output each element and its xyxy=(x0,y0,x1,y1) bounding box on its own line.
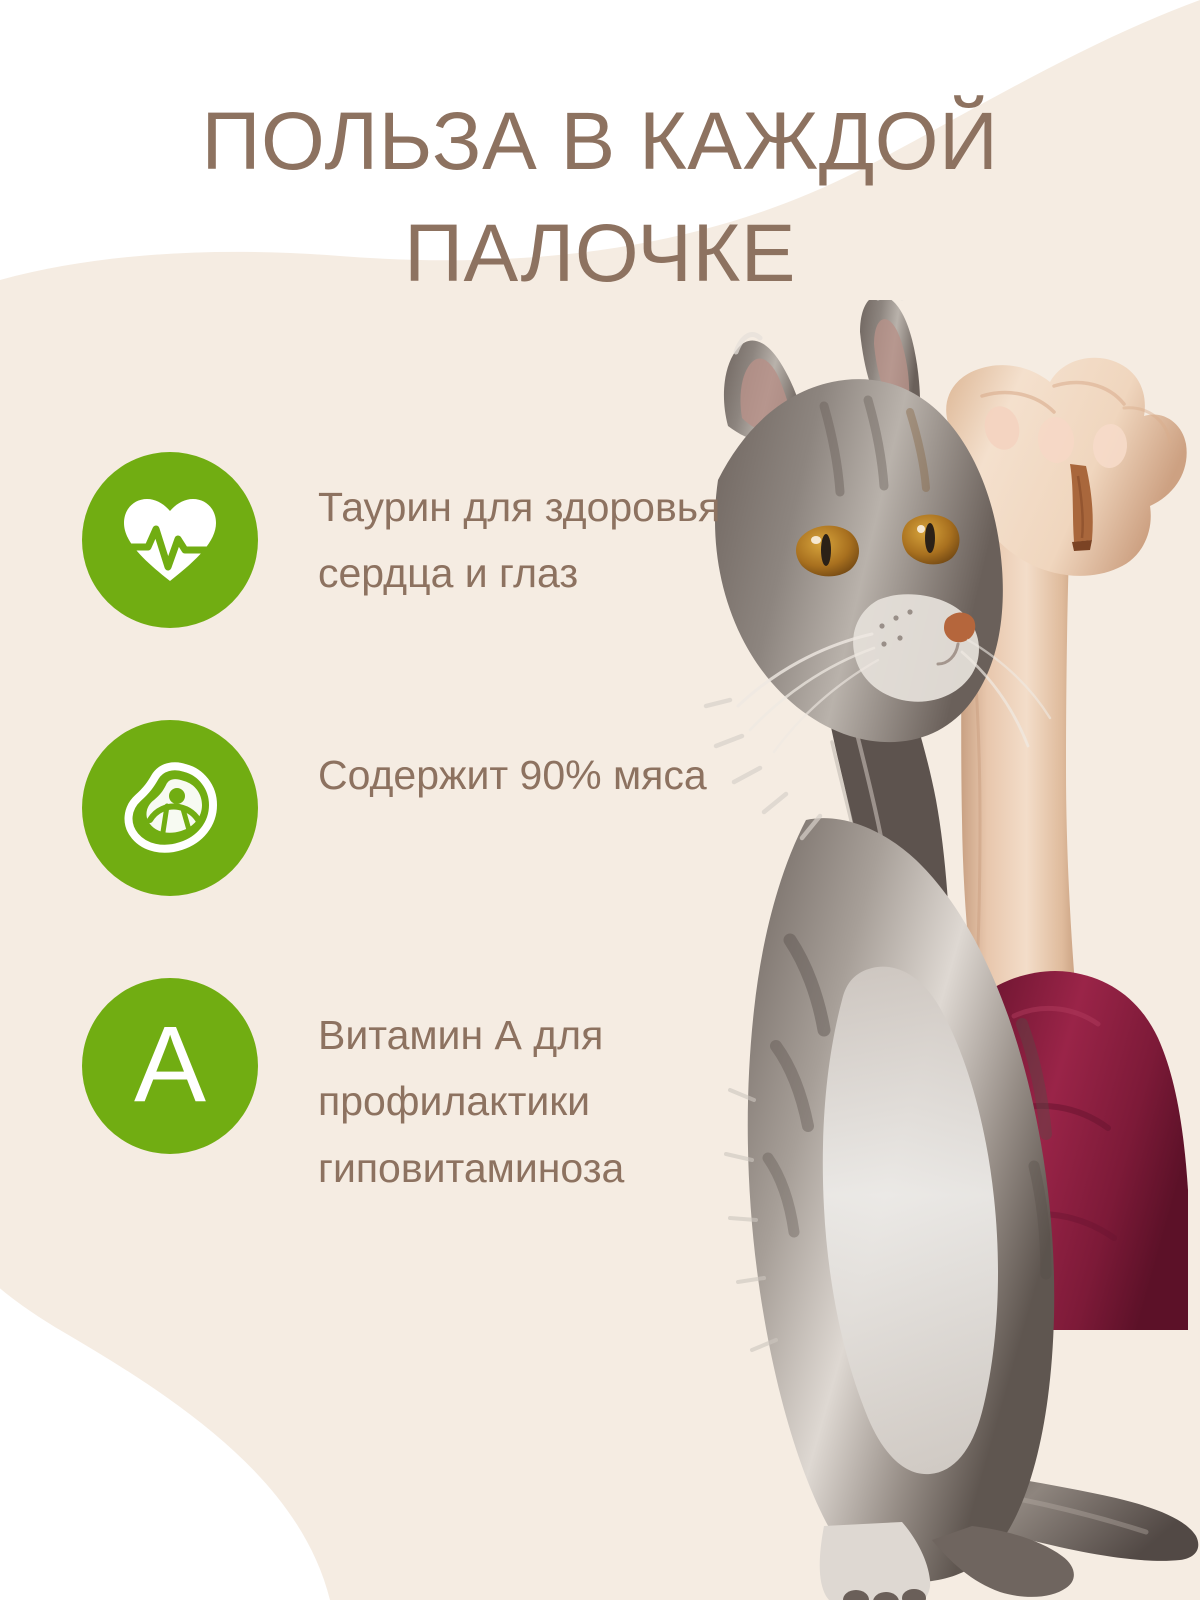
feature-text-meat: Содержит 90% мяса xyxy=(318,720,707,808)
feature-item-taurine: Таурин для здоровья сердца и глаз xyxy=(82,452,782,720)
feature-text-vitamin-a: Витамин А для профилактики гиповитаминоз… xyxy=(318,978,758,1201)
feature-list: Таурин для здоровья сердца и глаз Содерж… xyxy=(82,452,782,1238)
letter-a-icon: A xyxy=(134,1010,206,1118)
heart-pulse-icon xyxy=(122,497,218,583)
title-line-2: ПАЛОЧКЕ xyxy=(0,198,1200,310)
meat-steak-badge xyxy=(82,720,258,896)
meat-steak-icon xyxy=(123,762,217,854)
feature-item-vitamin-a: A Витамин А для профилактики гиповитамин… xyxy=(82,978,782,1238)
heart-pulse-badge xyxy=(82,452,258,628)
promo-poster: ПОЛЬЗА В КАЖДОЙ ПАЛОЧКЕ xyxy=(0,0,1200,1600)
letter-a-badge: A xyxy=(82,978,258,1154)
feature-item-meat: Содержит 90% мяса xyxy=(82,720,782,978)
title-line-1: ПОЛЬЗА В КАЖДОЙ xyxy=(0,86,1200,198)
feature-text-taurine: Таурин для здоровья сердца и глаз xyxy=(318,452,758,607)
poster-title: ПОЛЬЗА В КАЖДОЙ ПАЛОЧКЕ xyxy=(0,86,1200,309)
